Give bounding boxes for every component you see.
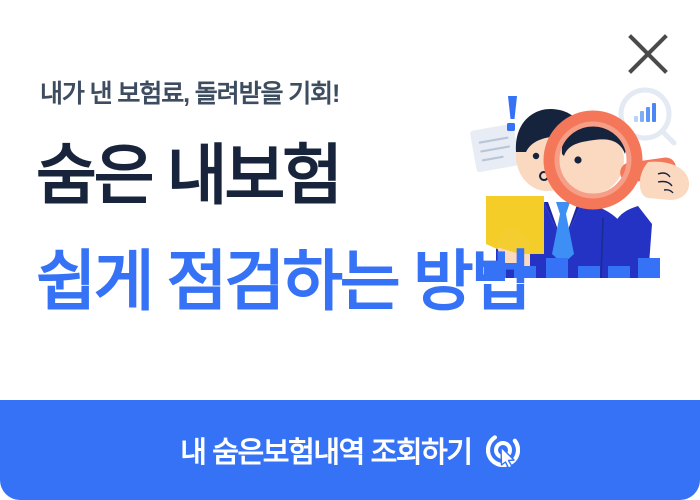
close-button[interactable]	[626, 32, 670, 76]
banner-subtitle: 내가 낸 보험료, 돌려받을 기회!	[40, 74, 339, 110]
promo-banner: 내가 낸 보험료, 돌려받을 기회! 숨은 내보험 쉽게 점검하는 방법	[0, 0, 700, 500]
cta-bar[interactable]: 내 숨은보험내역 조회하기	[0, 400, 700, 500]
right-hand	[640, 162, 689, 200]
banner-headline-line1: 숨은 내보험	[36, 142, 340, 208]
cta-label: 내 숨은보험내역 조회하기	[180, 429, 471, 471]
exclamation-mark-icon	[507, 96, 517, 131]
banner-headline-line2: 쉽게 점검하는 방법	[36, 248, 528, 314]
close-icon	[626, 32, 670, 76]
click-target-cursor-icon	[486, 433, 520, 467]
